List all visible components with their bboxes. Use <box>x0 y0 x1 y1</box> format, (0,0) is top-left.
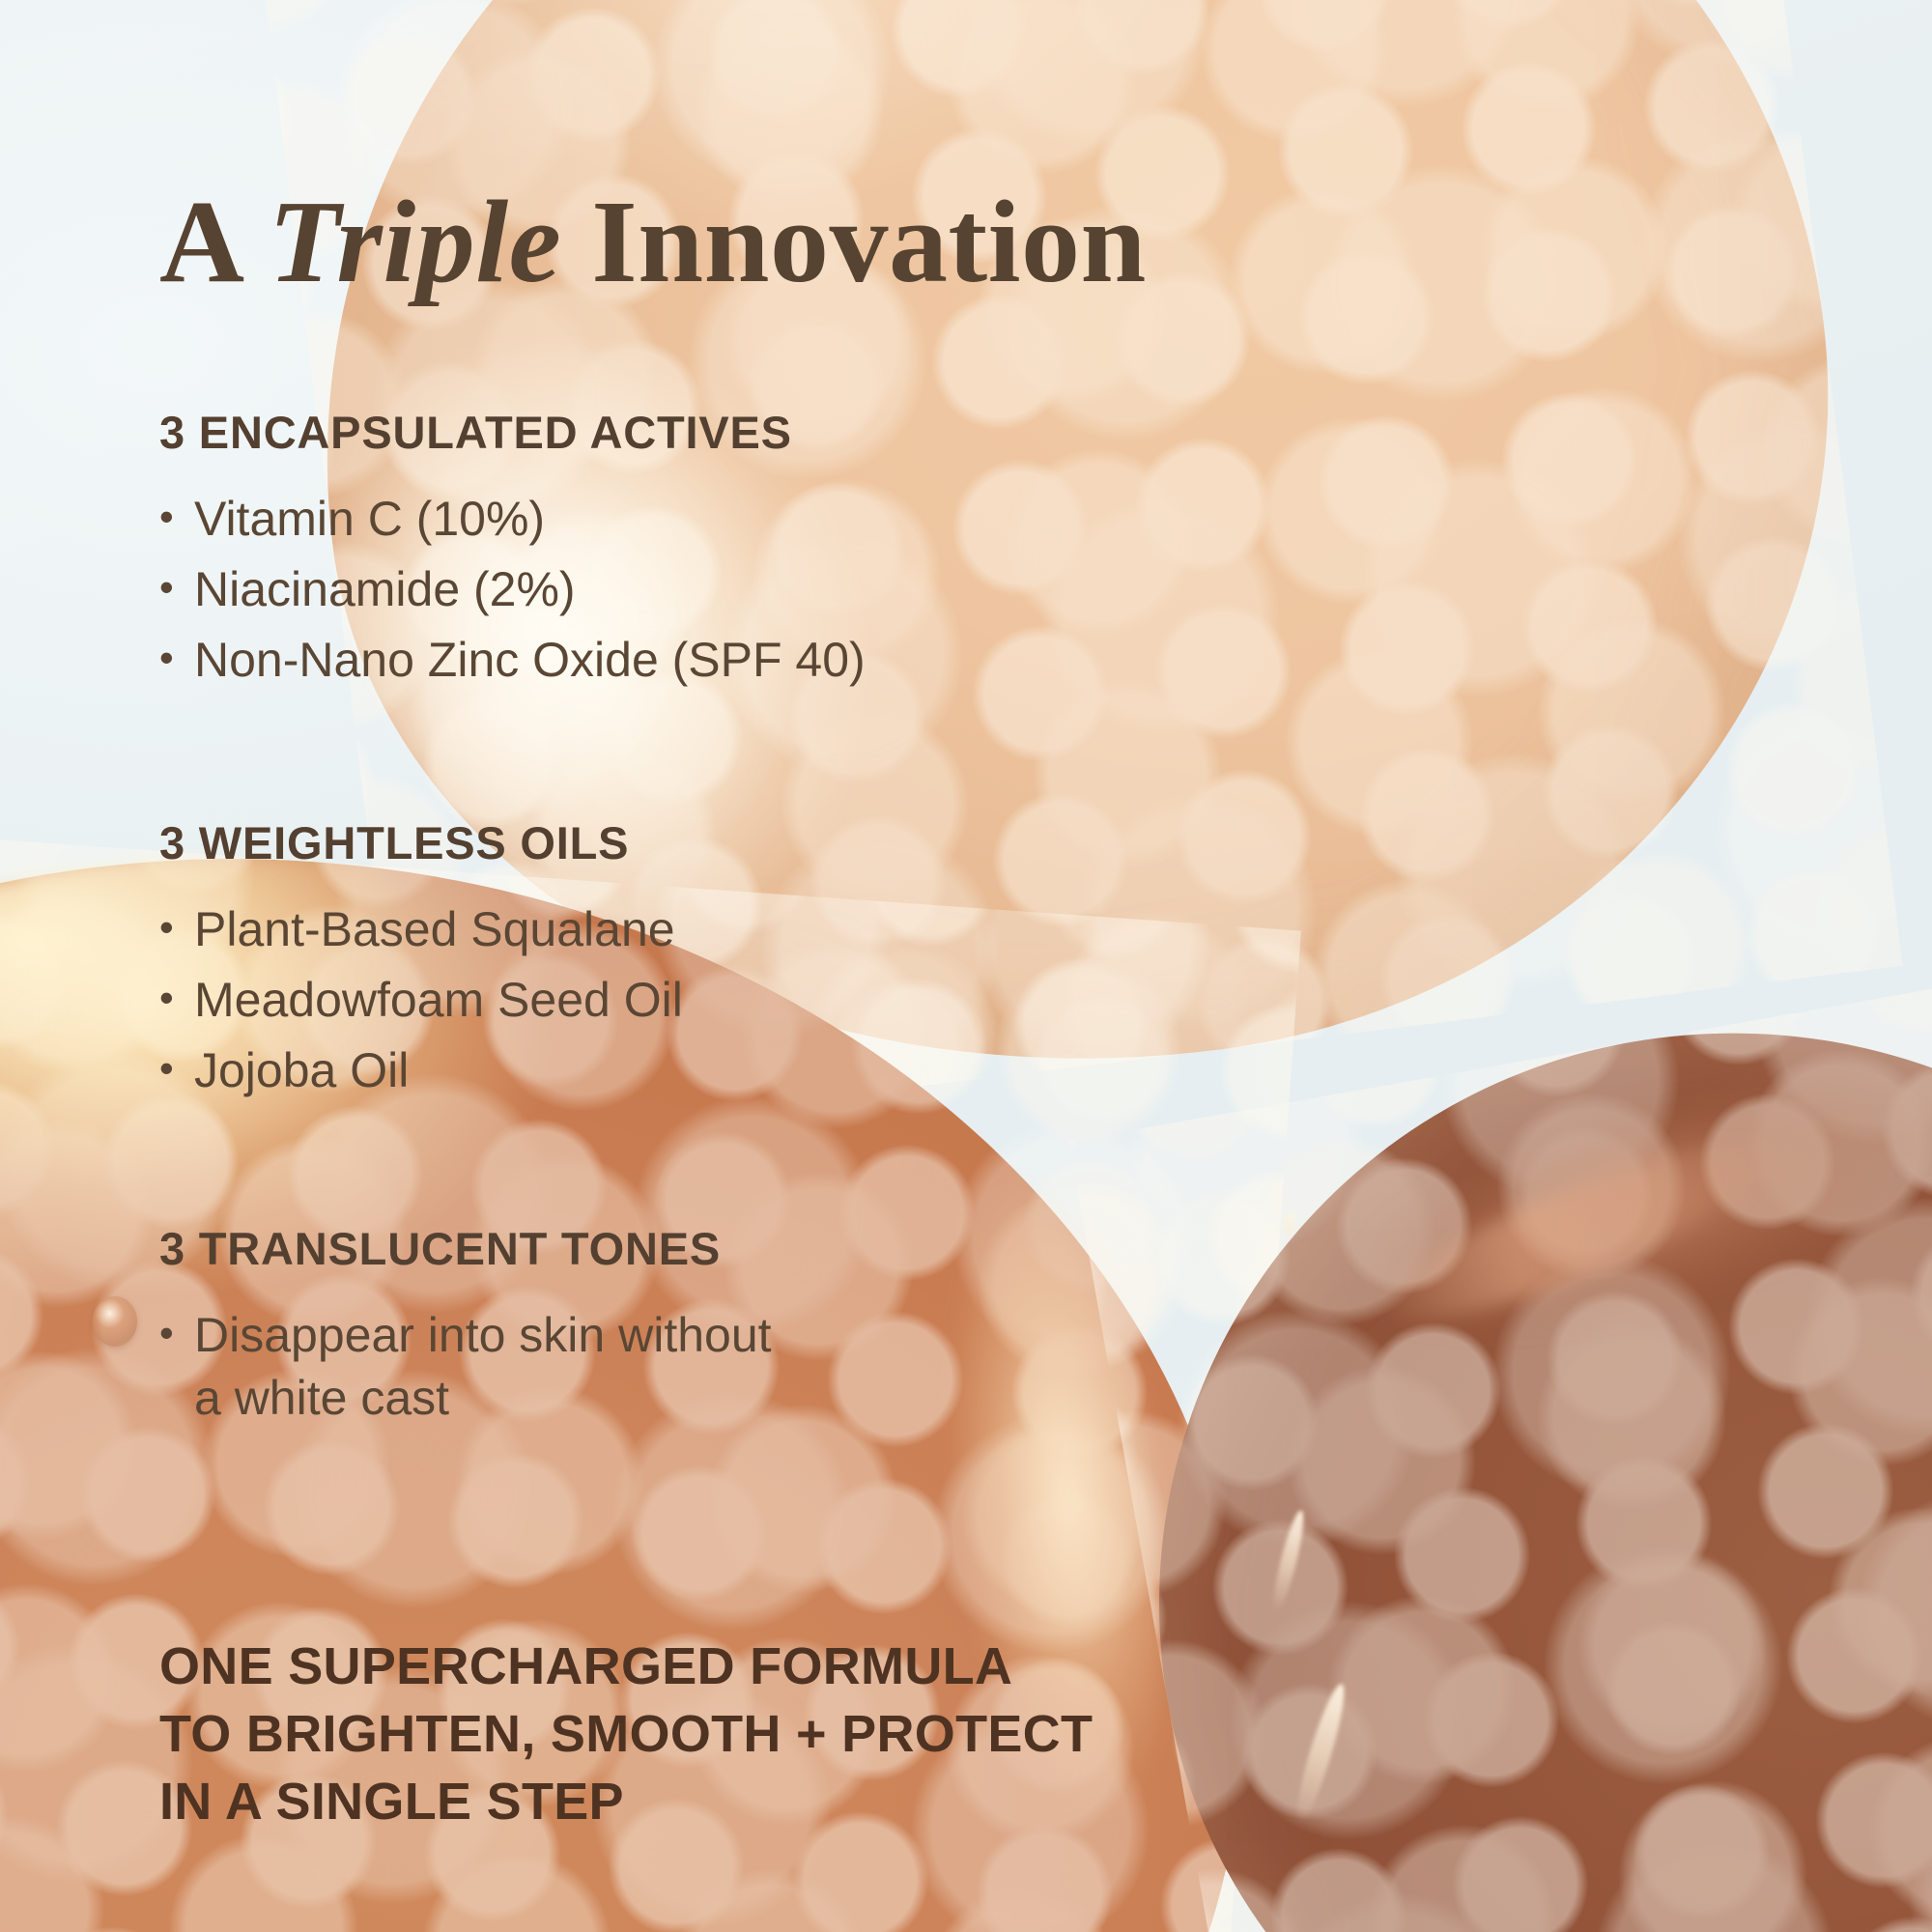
page-title: A Triple Innovation <box>159 184 1147 301</box>
section-heading: 3 WEIGHTLESS OILS <box>159 816 683 869</box>
section-heading: 3 TRANSLUCENT TONES <box>159 1222 772 1275</box>
section-bullet-list: Plant-Based Squalane Meadowfoam Seed Oil… <box>159 898 683 1102</box>
list-item: Plant-Based Squalane <box>159 898 683 961</box>
section-translucent-tones: 3 TRANSLUCENT TONES Disappear into skin … <box>159 1222 772 1437</box>
list-item: Meadowfoam Seed Oil <box>159 969 683 1032</box>
headline-part-before: A <box>159 177 269 307</box>
headline-emphasis: Triple <box>269 177 561 307</box>
section-bullet-list: Disappear into skin without a white cast <box>159 1304 772 1430</box>
headline-part-after: Innovation <box>561 177 1147 307</box>
list-item: Jojoba Oil <box>159 1039 683 1102</box>
list-item: Vitamin C (10%) <box>159 488 866 551</box>
section-weightless-oils: 3 WEIGHTLESS OILS Plant-Based Squalane M… <box>159 816 683 1110</box>
text-layer: A Triple Innovation 3 ENCAPSULATED ACTIV… <box>0 0 1932 1932</box>
section-heading: 3 ENCAPSULATED ACTIVES <box>159 406 866 459</box>
list-item: Disappear into skin without a white cast <box>159 1304 772 1430</box>
section-encapsulated-actives: 3 ENCAPSULATED ACTIVES Vitamin C (10%) N… <box>159 406 866 699</box>
list-item: Non-Nano Zinc Oxide (SPF 40) <box>159 629 866 692</box>
section-bullet-list: Vitamin C (10%) Niacinamide (2%) Non-Nan… <box>159 488 866 692</box>
list-item: Niacinamide (2%) <box>159 558 866 621</box>
product-claims-graphic: A Triple Innovation 3 ENCAPSULATED ACTIV… <box>0 0 1932 1932</box>
tagline: ONE SUPERCHARGED FORMULA TO BRIGHTEN, SM… <box>159 1633 1093 1836</box>
